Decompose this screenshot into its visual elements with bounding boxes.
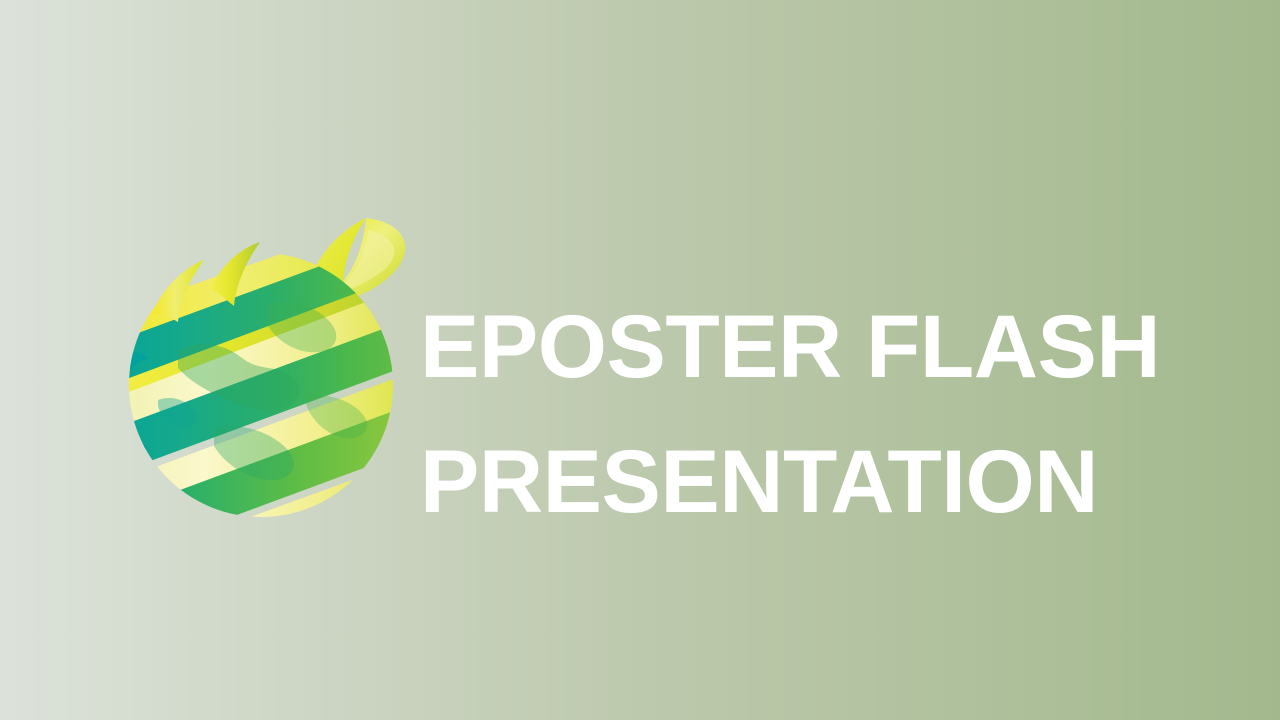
title-line-1: EPOSTER FLASH	[420, 279, 1180, 414]
brand-logo	[118, 200, 408, 520]
page-title: EPOSTER FLASH PRESENTATION	[420, 279, 1180, 549]
striped-globe-leaf-icon	[118, 200, 408, 520]
title-slide: EPOSTER FLASH PRESENTATION	[0, 0, 1280, 720]
slide-content: EPOSTER FLASH PRESENTATION	[0, 0, 1280, 720]
title-line-2: PRESENTATION	[420, 414, 1180, 549]
